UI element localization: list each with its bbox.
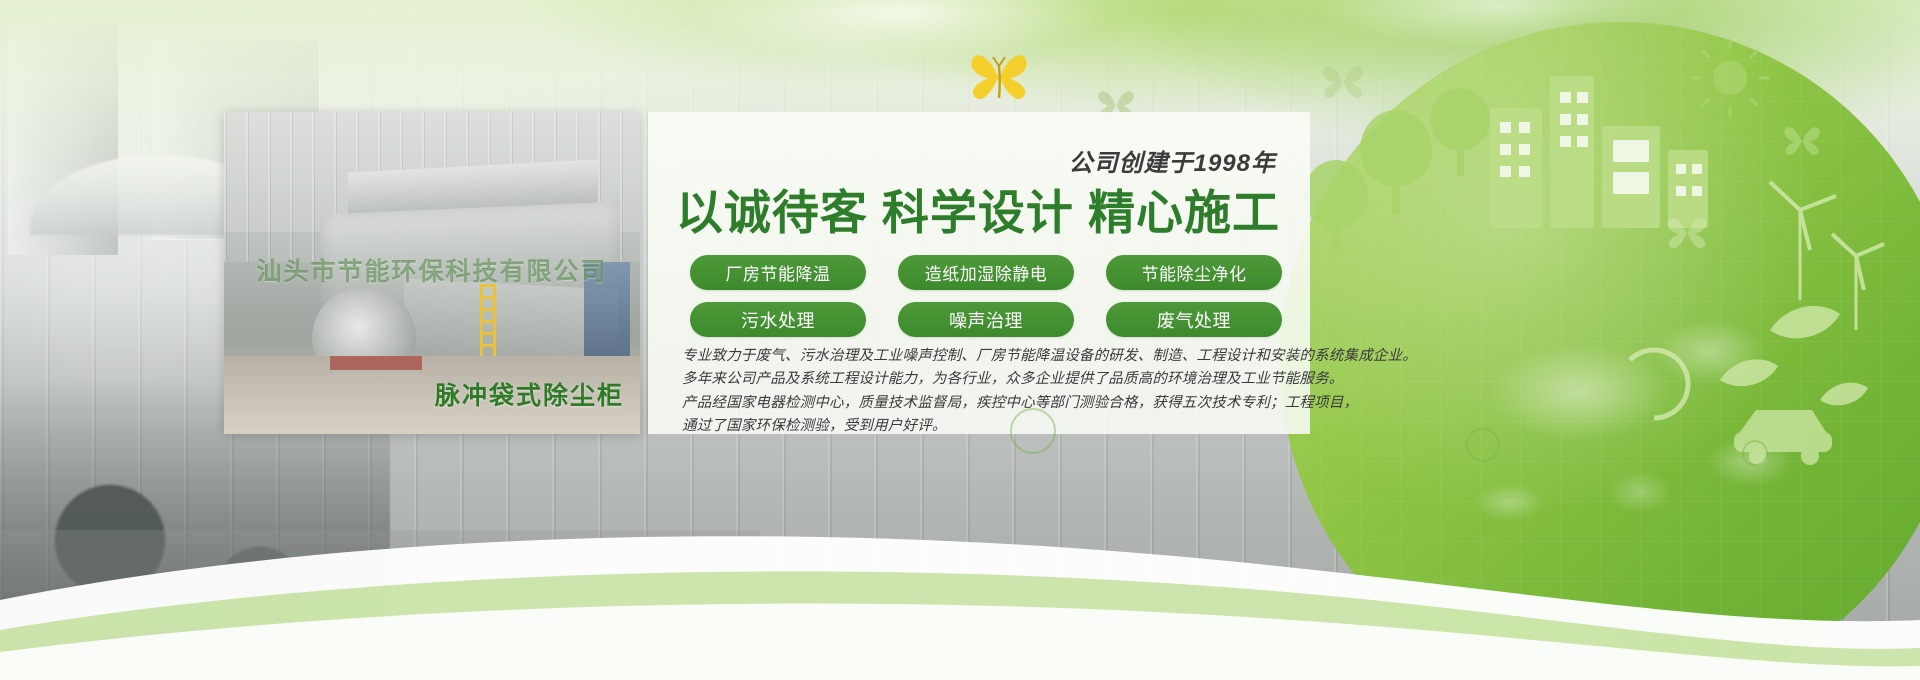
project-photo-card: 汕头市节能环保科技有限公司 脉冲袋式除尘柜: [224, 112, 640, 434]
background-floor: [0, 530, 760, 680]
founded-year-kicker: 公司创建于1998年: [648, 150, 1288, 179]
photo-caption: 脉冲袋式除尘柜: [435, 376, 624, 412]
promo-banner: 汕头市节能环保科技有限公司 脉冲袋式除尘柜 公司创建于1998年 以诚待客 科学…: [0, 0, 1920, 680]
photo-company-watermark: 汕头市节能环保科技有限公司: [224, 252, 640, 288]
service-tag-list: 厂房节能降温 造纸加湿除静电 节能除尘净化 污水处理 噪声治理 废气处理: [690, 255, 1290, 337]
description-line-1: 专业致力于废气、污水治理及工业噪声控制、厂房节能降温设备的研发、制造、工程设计和…: [682, 345, 1312, 368]
service-tag-factory-cooling[interactable]: 厂房节能降温: [690, 255, 866, 290]
description-line-2: 多年来公司产品及系统工程设计能力，为各行业，众多企业提供了品质高的环境治理及工业…: [682, 368, 1312, 391]
headline-block: 公司创建于1998年 以诚待客 科学设计 精心施工: [648, 150, 1288, 239]
description-line-3: 产品经国家电器检测中心，质量技术监督局，疾控中心等部门测验合格，获得五次技术专利…: [682, 392, 1312, 415]
service-tag-paper-humidify[interactable]: 造纸加湿除静电: [898, 255, 1074, 290]
service-tag-dust-purification[interactable]: 节能除尘净化: [1106, 255, 1282, 290]
photo-red-frame: [330, 356, 422, 370]
service-tag-waste-gas[interactable]: 废气处理: [1106, 302, 1282, 337]
company-description: 专业致力于废气、污水治理及工业噪声控制、厂房节能降温设备的研发、制造、工程设计和…: [682, 345, 1312, 439]
main-headline: 以诚待客 科学设计 精心施工: [648, 187, 1288, 240]
description-line-4: 通过了国家环保检测验，受到用户好评。: [682, 415, 1312, 438]
service-tag-noise-control[interactable]: 噪声治理: [898, 302, 1074, 337]
service-tag-sewage-treatment[interactable]: 污水处理: [690, 302, 866, 337]
